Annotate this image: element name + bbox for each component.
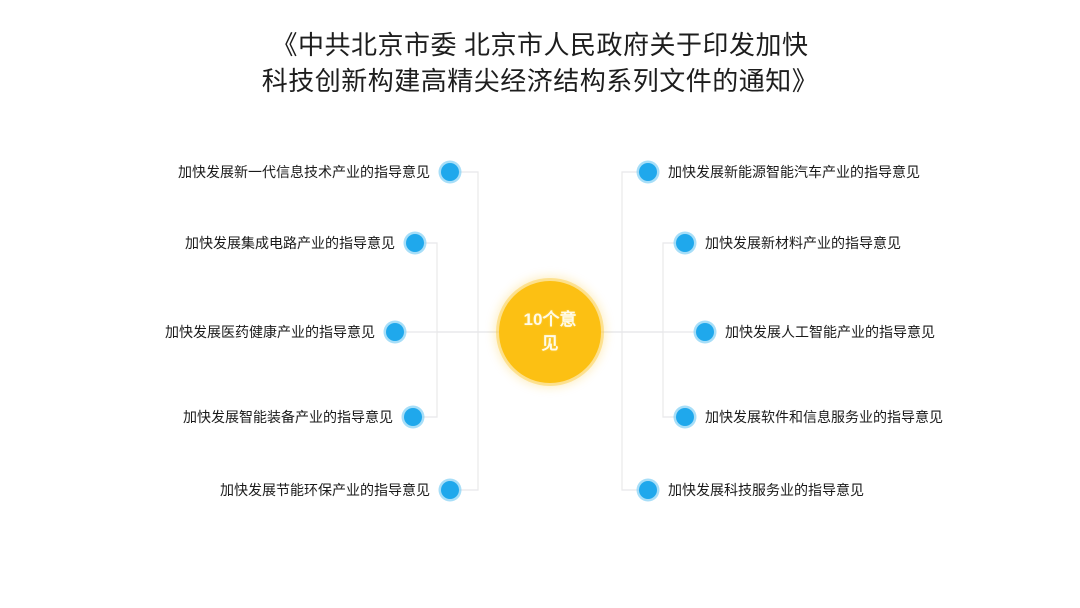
node-left-5-label: 加快发展节能环保产业的指导意见 bbox=[220, 479, 430, 501]
node-dot-icon bbox=[386, 323, 404, 341]
node-right-1-label: 加快发展新能源智能汽车产业的指导意见 bbox=[668, 161, 920, 183]
connector-right-4 bbox=[663, 332, 685, 417]
node-right-5-label: 加快发展科技服务业的指导意见 bbox=[668, 479, 864, 501]
node-dot-icon bbox=[404, 408, 422, 426]
node-dot-icon bbox=[676, 234, 694, 252]
node-left-1-label: 加快发展新一代信息技术产业的指导意见 bbox=[178, 161, 430, 183]
center-hub-label: 10个意见 bbox=[517, 308, 583, 356]
node-dot-icon bbox=[406, 234, 424, 252]
node-dot-icon bbox=[676, 408, 694, 426]
node-right-4-label: 加快发展软件和信息服务业的指导意见 bbox=[705, 406, 943, 428]
node-right-2-label: 加快发展新材料产业的指导意见 bbox=[705, 232, 901, 254]
node-right-3-label: 加快发展人工智能产业的指导意见 bbox=[725, 321, 935, 343]
connector-right-5 bbox=[622, 332, 648, 490]
connector-left-5 bbox=[450, 332, 478, 490]
node-left-3-label: 加快发展医药健康产业的指导意见 bbox=[165, 321, 375, 343]
node-dot-icon bbox=[441, 163, 459, 181]
node-dot-icon bbox=[441, 481, 459, 499]
node-dot-icon bbox=[696, 323, 714, 341]
node-left-2-label: 加快发展集成电路产业的指导意见 bbox=[185, 232, 395, 254]
center-hub[interactable]: 10个意见 bbox=[499, 281, 601, 383]
node-left-4-label: 加快发展智能装备产业的指导意见 bbox=[183, 406, 393, 428]
connector-left-4 bbox=[413, 332, 437, 417]
node-dot-icon bbox=[639, 481, 657, 499]
page-title: 《中共北京市委 北京市人民政府关于印发加快 科技创新构建高精尖经济结构系列文件的… bbox=[0, 28, 1080, 100]
connector-right-2 bbox=[663, 243, 685, 332]
connector-right-1 bbox=[622, 172, 648, 332]
connector-left-2 bbox=[415, 243, 437, 332]
slide-canvas: 《中共北京市委 北京市人民政府关于印发加快 科技创新构建高精尖经济结构系列文件的… bbox=[0, 0, 1080, 608]
node-dot-icon bbox=[639, 163, 657, 181]
connector-left-1 bbox=[450, 172, 478, 332]
